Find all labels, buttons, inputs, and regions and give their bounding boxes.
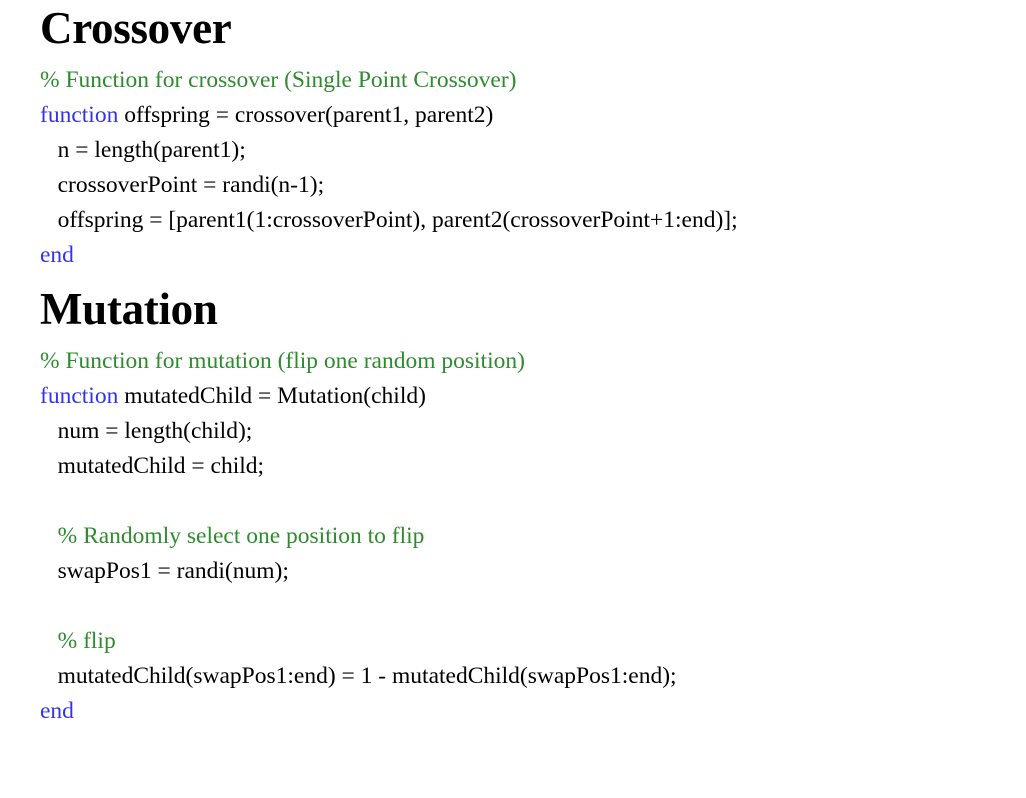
- code-token-plain: offspring = crossover(parent1, parent2): [118, 102, 493, 128]
- code-token-comment: % Function for crossover (Single Point C…: [40, 67, 516, 93]
- code-token-plain: swapPos1 = randi(num);: [40, 558, 289, 584]
- section-mutation: Mutation % Function for mutation (flip o…: [0, 273, 1026, 729]
- code-line: offspring = [parent1(1:crossoverPoint), …: [40, 203, 1026, 238]
- code-token-comment: % Randomly select one position to flip: [40, 523, 424, 549]
- page-title-mutation: Mutation: [40, 273, 1026, 332]
- code-token-plain: n = length(parent1);: [40, 137, 246, 163]
- code-token-plain: mutatedChild(swapPos1:end) = 1 - mutated…: [40, 663, 677, 689]
- page-root: Crossover % Function for crossover (Sing…: [0, 0, 1026, 798]
- code-line: crossoverPoint = randi(n-1);: [40, 168, 1026, 203]
- code-line: n = length(parent1);: [40, 133, 1026, 168]
- code-token-plain: mutatedChild = Mutation(child): [118, 383, 426, 409]
- code-line: [40, 484, 1026, 519]
- code-token-plain: crossoverPoint = randi(n-1);: [40, 172, 324, 198]
- code-token-keyword: end: [40, 242, 74, 268]
- code-line: function offspring = crossover(parent1, …: [40, 98, 1026, 133]
- code-line: mutatedChild = child;: [40, 449, 1026, 484]
- code-token-keyword: end: [40, 698, 74, 724]
- code-line: % Function for mutation (flip one random…: [40, 344, 1026, 379]
- page-title-crossover: Crossover: [40, 0, 1026, 51]
- code-block-crossover[interactable]: % Function for crossover (Single Point C…: [40, 51, 1026, 273]
- code-line: % Function for crossover (Single Point C…: [40, 63, 1026, 98]
- code-line: function mutatedChild = Mutation(child): [40, 379, 1026, 414]
- code-token-keyword: function: [40, 102, 118, 128]
- code-line: mutatedChild(swapPos1:end) = 1 - mutated…: [40, 659, 1026, 694]
- code-line: % flip: [40, 624, 1026, 659]
- code-line: % Randomly select one position to flip: [40, 519, 1026, 554]
- code-line: num = length(child);: [40, 414, 1026, 449]
- code-line: end: [40, 694, 1026, 729]
- code-line: swapPos1 = randi(num);: [40, 554, 1026, 589]
- code-token-comment: % flip: [40, 628, 116, 654]
- code-token-plain: offspring = [parent1(1:crossoverPoint), …: [40, 207, 738, 233]
- code-token-keyword: function: [40, 383, 118, 409]
- code-line: [40, 589, 1026, 624]
- code-line: end: [40, 238, 1026, 273]
- code-token-plain: mutatedChild = child;: [40, 453, 264, 479]
- code-block-mutation[interactable]: % Function for mutation (flip one random…: [40, 332, 1026, 729]
- code-token-plain: num = length(child);: [40, 418, 252, 444]
- code-token-comment: % Function for mutation (flip one random…: [40, 348, 525, 374]
- section-crossover: Crossover % Function for crossover (Sing…: [0, 0, 1026, 273]
